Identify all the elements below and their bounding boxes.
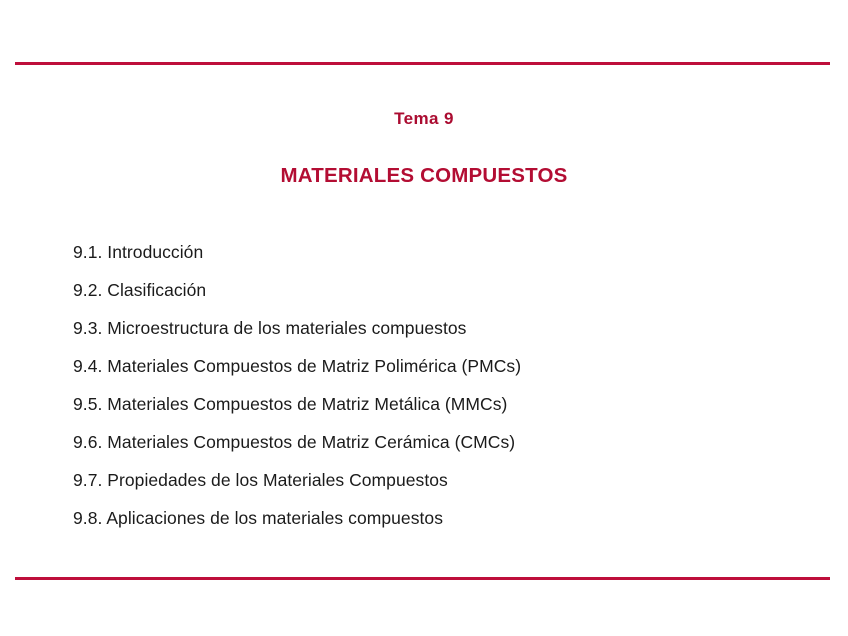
table-of-contents: 9.1. Introducción 9.2. Clasificación 9.3… bbox=[73, 233, 773, 537]
toc-item: 9.3. Microestructura de los materiales c… bbox=[73, 309, 773, 347]
title-block: Tema 9 MATERIALES COMPUESTOS bbox=[0, 108, 848, 189]
toc-item: 9.8. Aplicaciones de los materiales comp… bbox=[73, 499, 773, 537]
topic-label: Tema 9 bbox=[0, 108, 848, 130]
bottom-divider-rule bbox=[15, 577, 830, 580]
toc-item: 9.7. Propiedades de los Materiales Compu… bbox=[73, 461, 773, 499]
toc-item: 9.4. Materiales Compuestos de Matriz Pol… bbox=[73, 347, 773, 385]
slide-title: MATERIALES COMPUESTOS bbox=[0, 130, 848, 189]
slide: Tema 9 MATERIALES COMPUESTOS 9.1. Introd… bbox=[0, 0, 848, 636]
toc-item: 9.1. Introducción bbox=[73, 233, 773, 271]
toc-item: 9.2. Clasificación bbox=[73, 271, 773, 309]
top-divider-rule bbox=[15, 62, 830, 65]
toc-item: 9.6. Materiales Compuestos de Matriz Cer… bbox=[73, 423, 773, 461]
toc-item: 9.5. Materiales Compuestos de Matriz Met… bbox=[73, 385, 773, 423]
